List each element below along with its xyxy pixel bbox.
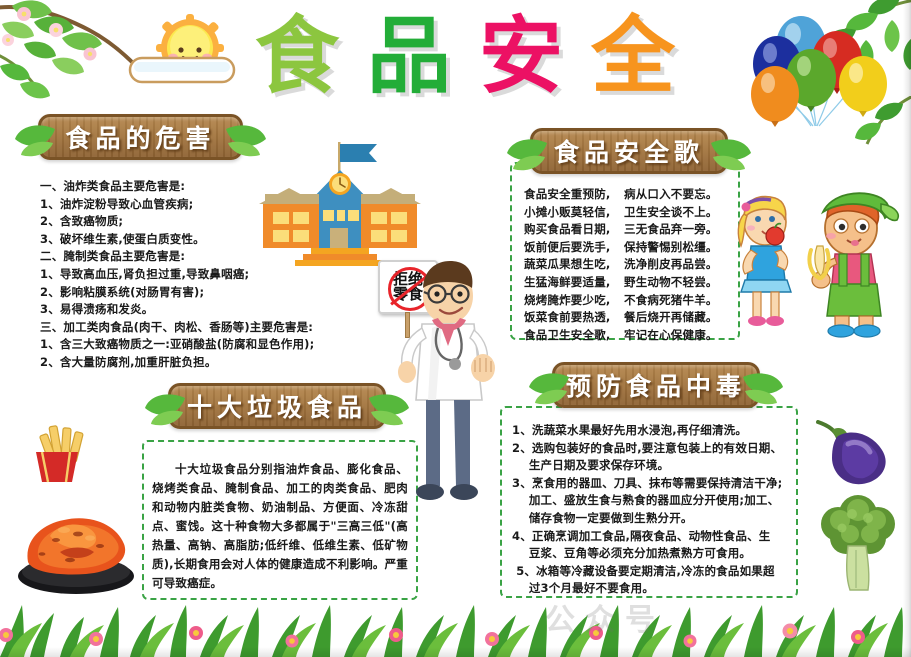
leaf-branch-top-left	[0, 0, 144, 106]
broccoli-illustration	[812, 490, 904, 598]
section-heading-song-label: 食品安全歌	[554, 133, 704, 169]
balloon-yellow	[839, 56, 887, 117]
heading-leaf-right-icon	[743, 369, 785, 405]
kids-illustration	[735, 188, 911, 338]
poison-list-item: 2、选购包装好的食品时,要注意包装上的有效日期、 生产日期及要求保存环境。	[512, 440, 796, 475]
heading-leaf-right-icon	[369, 390, 411, 426]
balloon-orange	[751, 66, 799, 127]
section-heading-song: 食品安全歌	[530, 128, 728, 174]
section-heading-poison-label: 预防食品中毒	[566, 367, 746, 403]
song-line: 饭前便后要洗手,保持警惕别松缰。	[524, 239, 734, 257]
heading-leaf-left-icon	[143, 390, 185, 426]
song-line: 饭菜食前要热透,餐后烧开再储藏。	[524, 309, 734, 327]
song-line: 小摊小贩莫轻信,卫生安全谈不上。	[524, 204, 734, 222]
song-line: 购买食品看日期,三无食品弃一旁。	[524, 221, 734, 239]
song-line: 食品安全重预防,病从口入不要忘。	[524, 186, 734, 204]
heading-leaf-left-icon	[13, 121, 55, 157]
balloons-decoration	[745, 2, 905, 127]
title-char-3: 安	[479, 14, 563, 98]
cloud-icon	[130, 58, 234, 82]
title-char-4: 全	[591, 14, 675, 98]
open-palm-icon	[471, 354, 495, 382]
section-heading-harm-label: 食品的危害	[65, 119, 215, 155]
song-body-text: 食品安全重预防,病从口入不要忘。小摊小贩莫轻信,卫生安全谈不上。购买食品看日期,…	[524, 186, 734, 344]
song-line: 食品卫生安全歌,牢记在心保健康。	[524, 327, 734, 345]
title-char-2: 品	[367, 14, 451, 98]
heading-leaf-left-icon	[527, 369, 569, 405]
heading-leaf-left-icon	[505, 135, 547, 171]
section-heading-harm: 食品的危害	[38, 114, 243, 160]
song-line: 蔬菜瓜果想生吃,洗净削皮再品尝。	[524, 256, 734, 274]
girl-eating-apple	[738, 197, 791, 326]
french-fries-illustration	[18, 424, 90, 486]
eggplant-illustration	[810, 420, 892, 490]
poster-canvas: 食 品 安 全 食品的危害 一、油炸类食品主要危害是: 1	[0, 0, 911, 657]
heading-leaf-right-icon	[226, 121, 268, 157]
page-title: 食 品 安 全	[255, 4, 675, 108]
fried-food-plate-illustration	[12, 488, 140, 596]
poison-list-item: 5、冰箱等冷藏设备要定期清洁,冷冻的食品如果超 过3个月最好不要食用。	[512, 563, 796, 598]
heading-leaf-right-icon	[711, 135, 753, 171]
leaf-branch-left-upper	[0, 52, 66, 122]
section-heading-junk: 十大垃圾食品	[168, 383, 386, 429]
poison-list-item: 4、正确烹调加工食品,隔夜食品、动物性食品、生 豆浆、豆角等必须充分加热煮熟方可…	[512, 528, 796, 563]
title-char-1: 食	[255, 14, 339, 98]
sun-and-cloud-decoration	[128, 12, 253, 97]
page-bottom-shadow	[0, 647, 911, 657]
poison-body-text: 1、洗蔬菜水果最好先用水浸泡,再仔细清洗。2、选购包装好的食品时,要注意包装上的…	[512, 422, 796, 598]
poison-list-item: 1、洗蔬菜水果最好先用水浸泡,再仔细清洗。	[512, 422, 796, 440]
song-line: 生猛海鲜要适量,野生动物不轻尝。	[524, 274, 734, 292]
boy-with-banana	[809, 193, 898, 337]
section-heading-junk-label: 十大垃圾食品	[187, 388, 367, 424]
song-line: 烧烤腌炸要少吃,不食病死猪牛羊。	[524, 292, 734, 310]
poison-list-item: 3、烹食用的器皿、刀具、抹布等需要保持清洁干净; 加工、盛放生食与熟食的器皿应分…	[512, 475, 796, 528]
section-heading-poison: 预防食品中毒	[552, 362, 760, 408]
